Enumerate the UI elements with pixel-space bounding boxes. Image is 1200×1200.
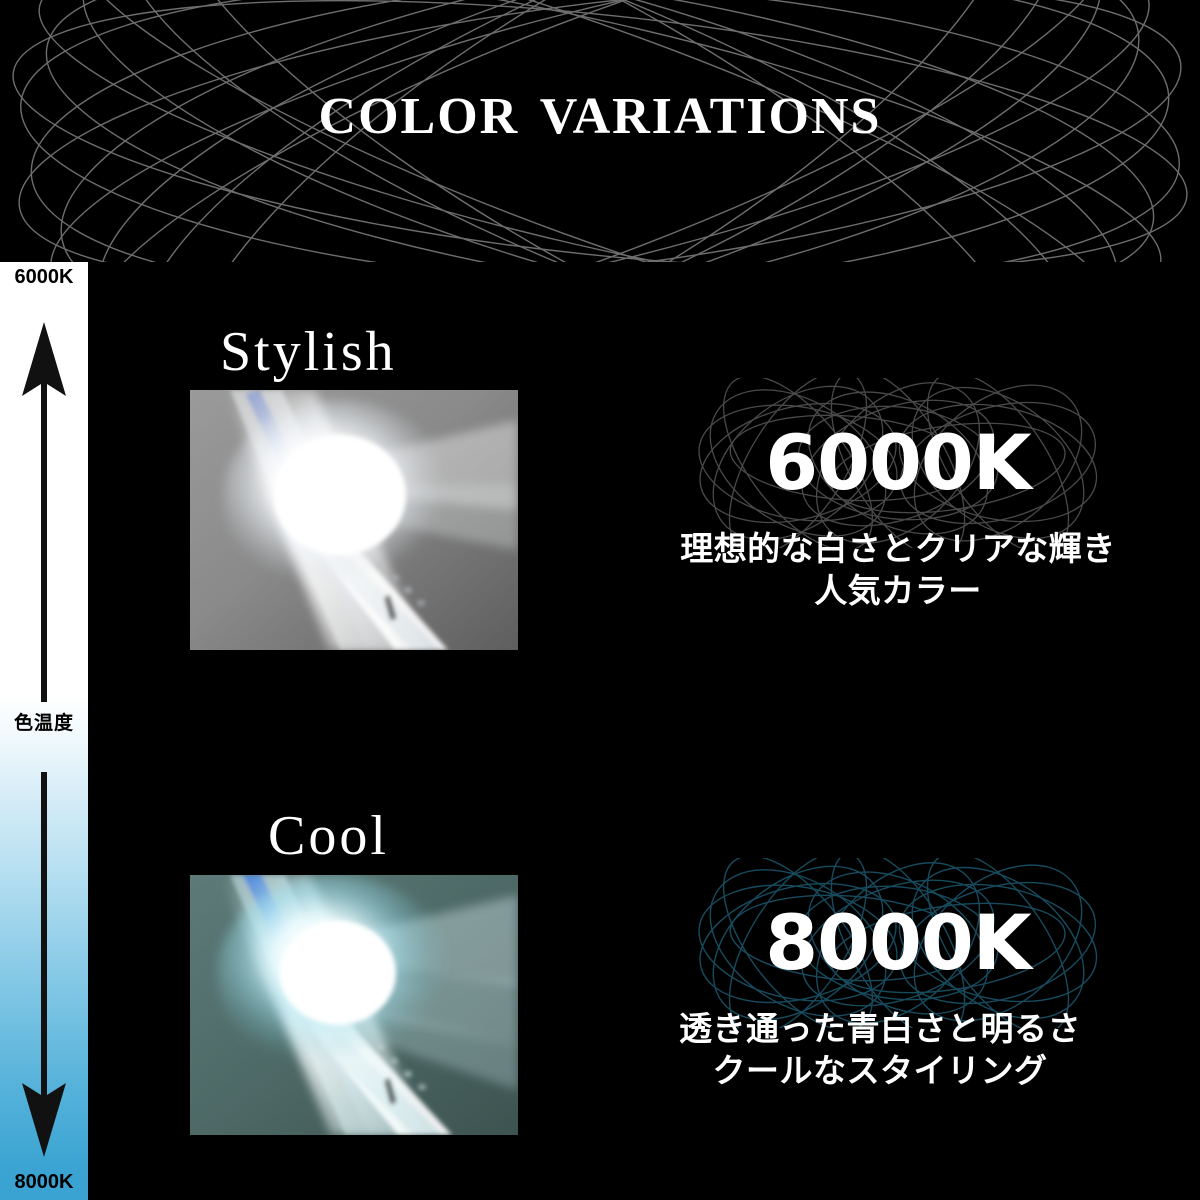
hid-bulb-6000k-photo xyxy=(190,390,518,650)
description-line-2: クールなスタイリング xyxy=(600,1050,1160,1092)
kelvin-value-8000k: 8000K xyxy=(638,858,1158,1028)
kelvin-value-6000k: 6000K xyxy=(638,378,1158,548)
scale-axis-label: 色温度 xyxy=(0,708,88,735)
color-temperature-scale: 6000K 色温度 8000K xyxy=(0,262,88,1200)
variation-label-stylish: Stylish xyxy=(220,324,397,380)
kelvin-badge-8000k: 8000K xyxy=(638,858,1158,1028)
kelvin-badge-6000k: 6000K xyxy=(638,378,1158,548)
header-section: Color Variations xyxy=(0,0,1200,262)
variation-description-6000k: 理想的な白さとクリアな輝き 人気カラー xyxy=(618,528,1178,612)
variation-label-cool: Cool xyxy=(268,808,389,864)
arrow-down-icon xyxy=(16,772,72,1157)
page-title: Color Variations xyxy=(0,72,1200,146)
variation-description-8000k: 透き通った青白さと明るさ クールなスタイリング xyxy=(600,1008,1160,1092)
description-line-1: 透き通った青白さと明るさ xyxy=(600,1008,1160,1050)
description-line-1: 理想的な白さとクリアな輝き xyxy=(618,528,1178,570)
color-variations-poster: Color Variations 6000K 色温度 8000K Stylish xyxy=(0,0,1200,1200)
description-line-2: 人気カラー xyxy=(618,570,1178,612)
arrow-up-icon xyxy=(16,322,72,702)
scale-top-label: 6000K xyxy=(0,266,88,289)
hid-bulb-8000k-photo xyxy=(190,875,518,1135)
scale-bottom-label: 8000K xyxy=(0,1171,88,1194)
